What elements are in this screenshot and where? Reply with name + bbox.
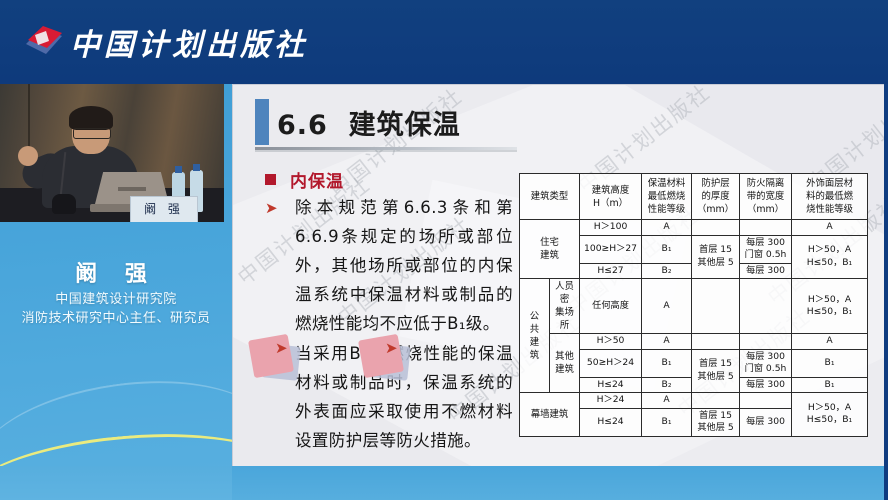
group-crowded-place: 人员密 集场所 [550, 279, 580, 334]
cell-grade: B₁ [642, 408, 692, 436]
cell-height: H＞24 [580, 393, 642, 409]
th-building-type: 建筑类型 [520, 174, 580, 220]
table-header-row: 建筑类型 建筑高度 H（m） 保温材料 最低燃烧 性能等级 防护层 的厚度 [520, 174, 868, 220]
publisher-name: 中国计划出版社 [70, 20, 308, 64]
group-residential: 住宅 建筑 [520, 220, 580, 279]
cell-thickness: 首层 15 其他层 5 [692, 349, 740, 393]
cell-grade: A [642, 393, 692, 409]
cell-facade: B₁ [792, 349, 868, 377]
speaker-org-line-2: 消防技术研究中心主任、研究员 [0, 309, 232, 328]
presenter-hair [69, 106, 113, 130]
group-public: 公 共 建 筑 [520, 279, 550, 393]
arrow-bullet-icon: ➤ [265, 201, 278, 216]
table-row: 公 共 建 筑 人员密 集场所 任何高度 A [520, 279, 868, 334]
app-header: 中国计划出版社 [0, 0, 888, 84]
book-logo-icon [22, 22, 66, 62]
cell-height: H＞50 [580, 334, 642, 350]
name-plate-text: 阚 强 [131, 200, 197, 217]
cell-facade: A [792, 220, 868, 236]
cell-band [740, 279, 792, 334]
cell-band: 每层 300 [740, 377, 792, 393]
cell-facade: A [792, 334, 868, 350]
presenter-video[interactable]: 阚 强 [0, 84, 224, 222]
cell-height: H≤27 [580, 263, 642, 279]
th-insulation-grade: 保温材料 最低燃烧 性能等级 [642, 174, 692, 220]
cell-thickness [692, 279, 740, 334]
laptop-keyboard [118, 187, 146, 191]
cell-band [740, 393, 792, 409]
speaker-affiliation: 中国建筑设计研究院 消防技术研究中心主任、研究员 [0, 290, 232, 328]
cell-band: 每层 300 [740, 408, 792, 436]
cell-band: 每层 300 [740, 263, 792, 279]
cell-grade: B₂ [642, 263, 692, 279]
table-row: 幕墙建筑 H＞24 A H＞50，A H≤50，B₁ [520, 393, 868, 409]
cell-height: H＞100 [580, 220, 642, 236]
slide-canvas[interactable]: 中国计划出版社 中国计划出版社 中国计划出版社 中国计划出版社 中国计划出版社 … [232, 84, 886, 468]
group-other-building: 其他 建筑 [550, 334, 580, 393]
presenter-glasses [73, 128, 111, 139]
cell-thickness [692, 220, 740, 236]
cell-height: H≤24 [580, 377, 642, 393]
th-facade-grade: 外饰面层材 料的最低燃 烧性能等级 [792, 174, 868, 220]
table-row: 住宅 建筑 H＞100 A A [520, 220, 868, 236]
cell-height: 50≥H＞24 [580, 349, 642, 377]
cell-grade: A [642, 279, 692, 334]
cell-facade: H＞50，A H≤50，B₁ [792, 393, 868, 437]
microphone-icon [52, 194, 76, 214]
title-accent-bar [255, 99, 269, 145]
section-number: 6.6 [277, 110, 328, 141]
cell-thickness [692, 393, 740, 409]
cell-grade: B₁ [642, 349, 692, 377]
cell-grade: B₁ [642, 235, 692, 263]
speaker-org-line-1: 中国建筑设计研究院 [0, 290, 232, 309]
th-building-height: 建筑高度 H（m） [580, 174, 642, 220]
group-curtain-wall: 幕墙建筑 [520, 393, 580, 437]
speaker-panel: 阚 强 阚 强 中国建筑设计研究院 消防技术研究中心主任、研究员 [0, 84, 232, 500]
right-edge-fill [884, 84, 888, 500]
cell-height: 100≥H＞27 [580, 235, 642, 263]
cell-band [740, 334, 792, 350]
cell-facade: B₁ [792, 377, 868, 393]
cell-thickness: 首层 15 其他层 5 [692, 408, 740, 436]
presentation-viewer: 中国计划出版社 阚 强 阚 强 中国建筑设计研究院 [0, 0, 888, 500]
name-plate: 阚 强 [130, 196, 198, 222]
title-divider-shadow [255, 150, 517, 152]
book-sticker-icon: ➤ [361, 337, 415, 381]
page-title: 6.6 建筑保温 [277, 103, 461, 142]
bottom-strip [232, 466, 888, 500]
cell-height: 任何高度 [580, 279, 642, 334]
cell-band: 每层 300 门窗 0.5h [740, 349, 792, 377]
th-protection-thickness: 防护层 的厚度 （mm） [692, 174, 740, 220]
watermark: 中国计划出版社 [323, 84, 468, 203]
cell-facade: H＞50，A H≤50，B₁ [792, 279, 868, 334]
square-bullet-icon [265, 174, 276, 185]
cell-thickness [692, 334, 740, 350]
book-sticker-icon: ➤ [251, 337, 305, 381]
cell-thickness: 首层 15 其他层 5 [692, 235, 740, 279]
subheading-label: 内保温 [290, 167, 344, 192]
bottom-left-fill [0, 466, 232, 500]
regulation-table: 建筑类型 建筑高度 H（m） 保温材料 最低燃烧 性能等级 防护层 的厚度 [519, 173, 868, 437]
speaker-name: 阚 强 [0, 256, 232, 288]
cell-grade: A [642, 220, 692, 236]
section-title: 建筑保温 [349, 110, 461, 141]
cell-grade: B₂ [642, 377, 692, 393]
subheading: 内保温 [265, 167, 344, 192]
regulation-table-wrapper[interactable]: 建筑类型 建筑高度 H（m） 保温材料 最低燃烧 性能等级 防护层 的厚度 [519, 173, 867, 437]
cell-band: 每层 300 门窗 0.5h [740, 235, 792, 263]
cell-facade: H＞50，A H≤50，B₁ [792, 235, 868, 279]
cell-band [740, 220, 792, 236]
th-firebreak-width: 防火隔离 带的宽度 （mm） [740, 174, 792, 220]
table-row: 其他 建筑 H＞50 A A [520, 334, 868, 350]
presenter-hand [18, 146, 38, 166]
paragraph-1: 除本规范第6.6.3条和第6.6.9条规定的场所或部位外，其他场所或部位的内保温… [295, 193, 513, 338]
cell-height: H≤24 [580, 408, 642, 436]
cell-grade: A [642, 334, 692, 350]
